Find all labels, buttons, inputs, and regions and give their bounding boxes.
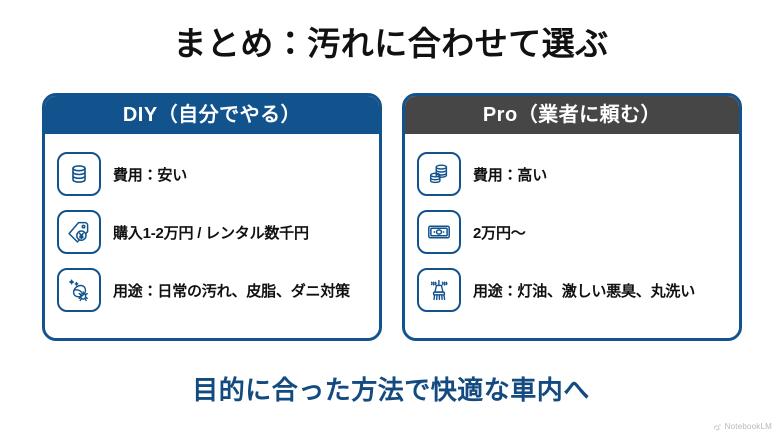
list-item-label: 費用：安い [113, 164, 187, 185]
card-diy-body: 費用：安い 購入1-2万円 / レンタル数千円 [45, 134, 379, 338]
list-item: 2万円〜 [417, 206, 727, 258]
sponge-clean-mite-icon [57, 268, 101, 312]
card-pro-header: Pro（業者に頼む） [405, 96, 739, 134]
list-item: 費用：高い [417, 148, 727, 200]
banknote-icon [417, 210, 461, 254]
list-item: 用途：日常の汚れ、皮脂、ダニ対策 [57, 264, 367, 316]
card-diy-header: DIY（自分でやる） [45, 96, 379, 134]
list-item: 用途：灯油、激しい悪臭、丸洗い [417, 264, 727, 316]
list-item: 費用：安い [57, 148, 367, 200]
footer-message: 目的に合った方法で快適な車内へ [0, 370, 782, 407]
list-item-label: 2万円〜 [473, 222, 526, 243]
comparison-cards: DIY（自分でやる） 費用：安い [42, 93, 742, 341]
notebooklm-logo-icon [713, 422, 722, 431]
page-title: まとめ：汚れに合わせて選ぶ [0, 24, 782, 64]
list-item-label: 用途：日常の汚れ、皮脂、ダニ対策 [113, 280, 350, 301]
card-pro: Pro（業者に頼む） 費用：高い [402, 93, 742, 341]
price-tag-yen-icon [57, 210, 101, 254]
coins-pile-icon [417, 152, 461, 196]
watermark: NotebookLM [713, 422, 772, 431]
list-item-label: 用途：灯油、激しい悪臭、丸洗い [473, 280, 695, 301]
watermark-label: NotebookLM [725, 422, 772, 431]
list-item: 購入1-2万円 / レンタル数千円 [57, 206, 367, 258]
slide-root: まとめ：汚れに合わせて選ぶ DIY（自分でやる） 費用：安い [0, 0, 782, 437]
list-item-label: 費用：高い [473, 164, 547, 185]
steam-brush-icon [417, 268, 461, 312]
card-pro-body: 費用：高い 2万円〜 [405, 134, 739, 338]
card-diy: DIY（自分でやる） 費用：安い [42, 93, 382, 341]
coin-stack-icon [57, 152, 101, 196]
list-item-label: 購入1-2万円 / レンタル数千円 [113, 222, 309, 243]
